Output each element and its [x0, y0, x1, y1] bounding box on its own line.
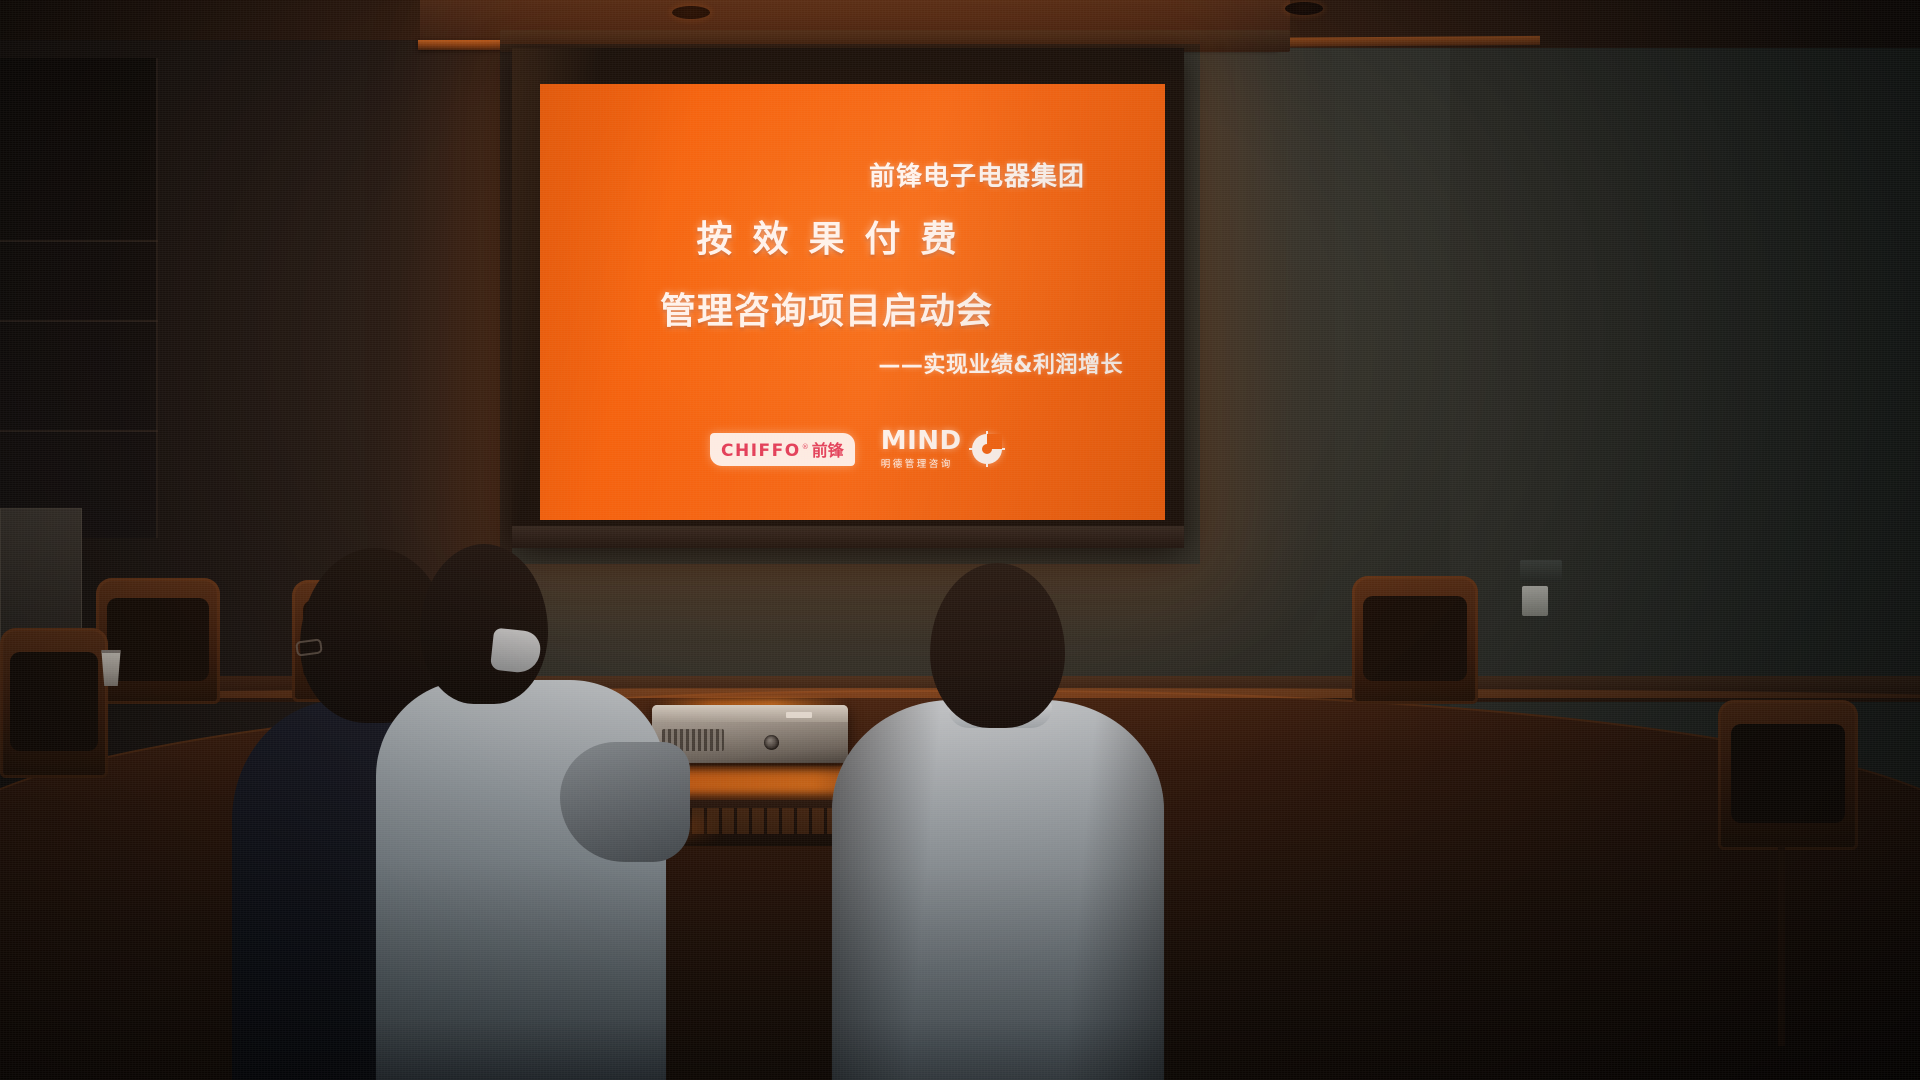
panel-seam-2: [0, 320, 158, 322]
slide-company-name: 前锋电子电器集团: [540, 156, 1085, 193]
chiffo-logo-en: CHIFFO: [721, 441, 801, 461]
chair-right-2: [1718, 700, 1858, 850]
ceiling-spot-light-2: [1285, 2, 1323, 15]
chair-right-1: [1352, 576, 1478, 704]
person-2-body: [376, 680, 666, 1080]
projection-screen-surface: 前锋电子电器集团 按效果付费 管理咨询项目启动会 ——实现业绩&利润增长 CHI…: [540, 84, 1165, 520]
wall-mounted-box: [1520, 560, 1562, 582]
target-center: [982, 444, 992, 454]
slide-logo-row: CHIFFO ® 前锋 MIND 明德管理咨询: [710, 429, 1005, 470]
mind-logo-cn: 明德管理咨询: [881, 456, 953, 470]
left-wall-panel: [0, 58, 158, 538]
mind-logo-text: MIND 明德管理咨询: [881, 429, 962, 470]
panel-seam-1: [0, 240, 158, 242]
ceiling-spot-light-1: [672, 6, 710, 19]
chiffo-logo-trademark: ®: [802, 443, 809, 451]
chair-back-opening: [107, 598, 209, 681]
target-circle-icon: [969, 431, 1005, 467]
conference-room-photo: 前锋电子电器集团 按效果付费 管理咨询项目启动会 ——实现业绩&利润增长 CHI…: [0, 0, 1920, 1080]
presentation-slide: 前锋电子电器集团 按效果付费 管理咨询项目启动会 ——实现业绩&利润增长 CHI…: [540, 84, 1165, 520]
person-2-arm: [560, 742, 690, 862]
screen-bottom-bar: [512, 526, 1184, 548]
mind-logo-en: MIND: [881, 429, 962, 454]
panel-seam-3: [0, 430, 158, 432]
chair-back-opening: [1363, 596, 1466, 680]
chair-leg: [1778, 846, 1785, 1046]
chair-left-3: [0, 628, 108, 778]
chiffo-logo-cn: 前锋: [812, 437, 844, 461]
slide-subtitle: ——实现业绩&利润增长: [540, 347, 1123, 379]
mind-logo: MIND 明德管理咨询: [881, 429, 1005, 470]
wall-mounted-dispenser: [1522, 586, 1548, 616]
chair-back-opening: [10, 652, 99, 751]
chair-back-opening: [1731, 724, 1846, 823]
chiffo-logo: CHIFFO ® 前锋: [710, 433, 855, 466]
slide-headline: 按效果付费: [540, 210, 1113, 262]
projector-top: [652, 705, 848, 722]
projector-label: [786, 712, 812, 718]
person-3-shading: [832, 700, 1164, 1080]
projector-lens-icon: [764, 735, 779, 750]
slide-title: 管理咨询项目启动会: [540, 282, 1113, 334]
